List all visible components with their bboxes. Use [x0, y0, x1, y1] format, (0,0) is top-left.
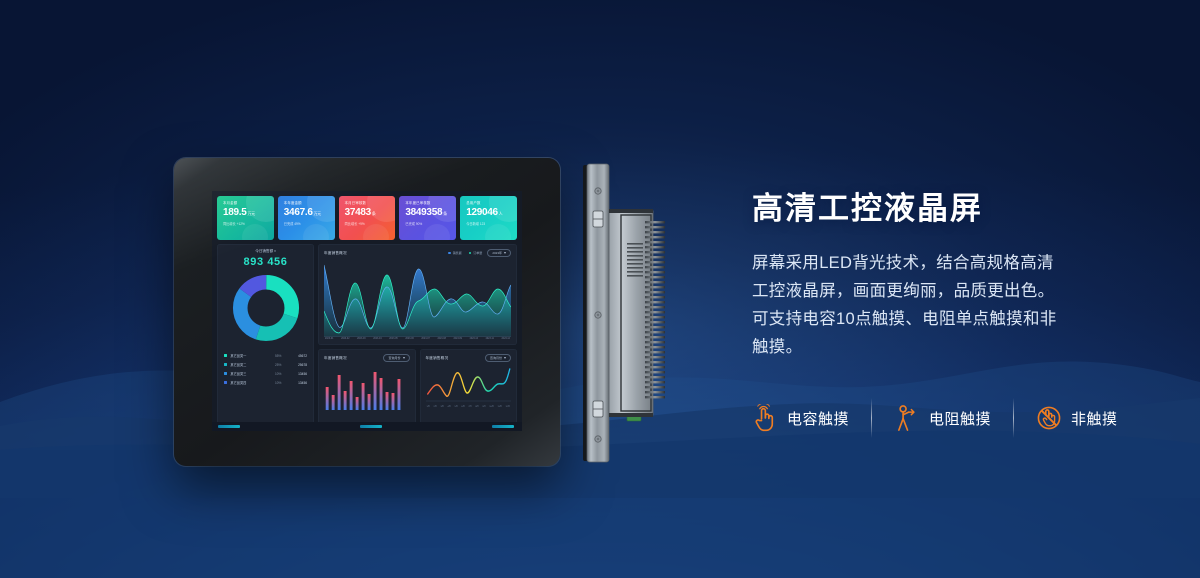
page-title: 高清工控液晶屏: [752, 190, 1172, 227]
kpi-card[interactable]: 总用户数 129046人 今日新增 123: [460, 196, 517, 240]
kpi-card[interactable]: 本月已审核数 37483条 同比增长 +9%: [339, 196, 396, 240]
axis-tick: 12月: [506, 405, 510, 408]
axis-tick: 3月: [440, 405, 443, 408]
line-chart-xaxis: 1月 2月 3月 4月 5月 6月 7月 8月 9月 10月: [426, 405, 512, 408]
axis-tick: 2023-05: [389, 338, 397, 340]
chevron-down-icon: [403, 357, 405, 359]
capacitive-touch-icon: [752, 404, 778, 432]
feature-label: 电阻触摸: [929, 408, 991, 429]
legend-label: 其它品类二: [230, 362, 275, 367]
legend-percent: 10%: [275, 381, 291, 385]
donut-total-value: 893 456: [217, 257, 314, 268]
taskbar-item[interactable]: [360, 425, 382, 428]
year-filter-value: 2023年: [492, 251, 502, 255]
legend-swatch: [224, 354, 227, 357]
kpi-card-row: 本月金额 189.5万元 同比增长 +12% 本年度金额 3467.6万元 已完…: [217, 196, 517, 240]
axis-tick: 2023-11: [486, 338, 494, 340]
axis-tick: 2023-12: [502, 338, 510, 340]
legend-item[interactable]: 其它品类二 25% 25678: [224, 360, 307, 369]
legend-label: 其它品类三: [230, 371, 275, 376]
axis-tick: 8月: [475, 405, 478, 408]
axis-tick: 2023-04: [373, 338, 381, 340]
legend-swatch: [224, 363, 227, 366]
legend-item[interactable]: 销售额: [448, 251, 462, 255]
resistive-touch-icon: [894, 404, 920, 432]
axis-tick: 2023-01: [325, 338, 333, 340]
donut-panel-title: 今日销售额: [255, 249, 273, 253]
kpi-title: 总用户数: [466, 201, 512, 205]
hero-text-block: 高清工控液晶屏 屏幕采用LED背光技术，结合高规格高清工控液晶屏，画面更绚丽，品…: [752, 190, 1172, 361]
kpi-title: 本月已审核数: [345, 201, 391, 205]
legend-count: 13456: [291, 381, 307, 385]
touch-feature-list: 电容触摸 电阻触摸 非触摸: [752, 398, 1118, 438]
feature-no-touch[interactable]: 非触摸: [1036, 404, 1118, 432]
axis-tick: 5月: [454, 405, 457, 408]
chevron-down-icon: [504, 357, 506, 359]
bar-chart-panel: 年度销售概况 查询月份: [318, 349, 416, 426]
donut-chart: [217, 274, 314, 342]
legend-swatch: [224, 381, 227, 384]
kpi-subtitle: 已完成 49%: [284, 222, 330, 226]
hero-description: 屏幕采用LED背光技术，结合高规格高清工控液晶屏，画面更绚丽，品质更出色。可支持…: [752, 249, 1064, 361]
hero-banner: 本月金额 189.5万元 同比增长 +12% 本年度金额 3467.6万元 已完…: [0, 0, 1200, 578]
kpi-subtitle: 今日新增 123: [466, 222, 512, 226]
axis-tick: 1月: [427, 405, 430, 408]
axis-tick: 2023-09: [454, 338, 462, 340]
legend-label: 订单量: [473, 251, 482, 255]
axis-tick: 10月: [489, 405, 493, 408]
kpi-subtitle: 已完成 90%: [405, 222, 451, 226]
donut-chart-panel: 今日销售额 ▾ 893 456: [217, 244, 314, 426]
feature-label: 非触摸: [1071, 408, 1118, 429]
kpi-card[interactable]: 本年度已审核数 3849358条 已完成 90%: [399, 196, 456, 240]
kpi-title: 本月金额: [223, 201, 269, 205]
axis-tick: 2023-08: [437, 338, 445, 340]
bar-filter-value: 查询月份: [388, 356, 400, 360]
area-chart-legend: 销售额 订单量: [448, 251, 482, 255]
industrial-panel-pc-side: [583, 163, 687, 463]
area-chart-canvas: [324, 259, 511, 337]
kpi-title: 本年度已审核数: [405, 201, 451, 205]
legend-percent: 25%: [275, 363, 291, 367]
legend-swatch: [224, 372, 227, 375]
axis-tick: 2023-07: [421, 338, 429, 340]
bar-chart-title: 年度销售概况: [324, 356, 347, 361]
taskbar-item[interactable]: [492, 425, 514, 428]
kpi-value: 129046人: [466, 206, 512, 220]
axis-tick: 2月: [433, 405, 436, 408]
legend-label: 其它品类四: [230, 380, 275, 385]
legend-item[interactable]: 其它品类三 10% 13456: [224, 369, 307, 378]
axis-tick: 2023-02: [341, 338, 349, 340]
kpi-value: 37483条: [345, 206, 391, 220]
feature-label: 电容触摸: [787, 408, 849, 429]
kpi-card[interactable]: 本月金额 189.5万元 同比增长 +12%: [217, 196, 274, 240]
kpi-subtitle: 同比增长 +12%: [223, 222, 269, 226]
line-month-filter-dropdown[interactable]: 查询月份: [485, 354, 511, 362]
lcd-screen: 本月金额 189.5万元 同比增长 +12% 本年度金额 3467.6万元 已完…: [212, 191, 522, 431]
kpi-card[interactable]: 本年度金额 3467.6万元 已完成 49%: [278, 196, 335, 240]
kpi-value: 189.5万元: [223, 206, 269, 220]
kpi-subtitle: 同比增长 +9%: [345, 222, 391, 226]
year-filter-dropdown[interactable]: 2023年: [487, 249, 511, 257]
axis-tick: 7月: [468, 405, 471, 408]
axis-tick: 2023-03: [357, 338, 365, 340]
axis-tick: 2023-10: [470, 338, 478, 340]
kpi-value: 3467.6万元: [284, 206, 330, 220]
legend-count: 25678: [291, 363, 307, 367]
taskbar-item[interactable]: [218, 425, 240, 428]
bar-month-filter-dropdown[interactable]: 查询月份: [383, 354, 409, 362]
legend-count: 45672: [291, 354, 307, 358]
axis-tick: 9月: [482, 405, 485, 408]
legend-label: 其它品类一: [230, 353, 275, 358]
legend-count: 13456: [291, 372, 307, 376]
industrial-panel-pc-front: 本月金额 189.5万元 同比增长 +12% 本年度金额 3467.6万元 已完…: [174, 158, 560, 466]
kpi-title: 本年度金额: [284, 201, 330, 205]
feature-capacitive-touch[interactable]: 电容触摸: [752, 404, 849, 432]
area-chart-title: 年度销售概况: [324, 251, 347, 256]
divider: [871, 398, 872, 438]
line-chart-panel: 年度销售概况 查询月份: [420, 349, 518, 426]
feature-resistive-touch[interactable]: 电阻触摸: [894, 404, 991, 432]
legend-item[interactable]: 其它品类四 10% 13456: [224, 378, 307, 387]
chevron-down-icon: [504, 252, 506, 254]
legend-percent: 10%: [275, 372, 291, 376]
line-chart-title: 年度销售概况: [426, 356, 449, 361]
line-chart-header: 年度销售概况 查询月份: [426, 354, 512, 362]
kpi-value: 3849358条: [405, 206, 451, 220]
bar-chart-canvas: [324, 366, 410, 410]
legend-item[interactable]: 订单量: [469, 251, 483, 255]
dashboard-body: 今日销售额 ▾ 893 456: [217, 244, 517, 426]
no-touch-icon: [1036, 404, 1062, 432]
donut-legend: 其它品类一 55% 45672 其它品类二 25% 25678: [217, 351, 314, 387]
area-chart-xaxis: 2023-01 2023-02 2023-03 2023-04 2023-05 …: [324, 338, 511, 340]
divider: [1013, 398, 1014, 438]
area-chart-panel: 年度销售概况 销售额 订单量 2023年: [318, 244, 517, 345]
legend-item[interactable]: 其它品类一 55% 45672: [224, 351, 307, 360]
area-chart-header: 年度销售概况 销售额 订单量 2023年: [324, 249, 511, 257]
legend-label: 销售额: [453, 251, 462, 255]
axis-tick: 2023-06: [405, 338, 413, 340]
legend-percent: 55%: [275, 354, 291, 358]
donut-panel-header[interactable]: 今日销售额 ▾: [217, 249, 314, 254]
axis-tick: 6月: [461, 405, 464, 408]
axis-tick: 4月: [447, 405, 450, 408]
dashboard: 本月金额 189.5万元 同比增长 +12% 本年度金额 3467.6万元 已完…: [212, 191, 522, 431]
bar-chart-header: 年度销售概况 查询月份: [324, 354, 410, 362]
line-filter-value: 查询月份: [490, 356, 502, 360]
dashboard-bottom-row: 年度销售概况 查询月份: [318, 349, 517, 426]
axis-tick: 11月: [498, 405, 502, 408]
dashboard-right-column: 年度销售概况 销售额 订单量 2023年: [318, 244, 517, 426]
taskbar[interactable]: [212, 422, 522, 431]
line-chart-canvas: [426, 366, 512, 404]
